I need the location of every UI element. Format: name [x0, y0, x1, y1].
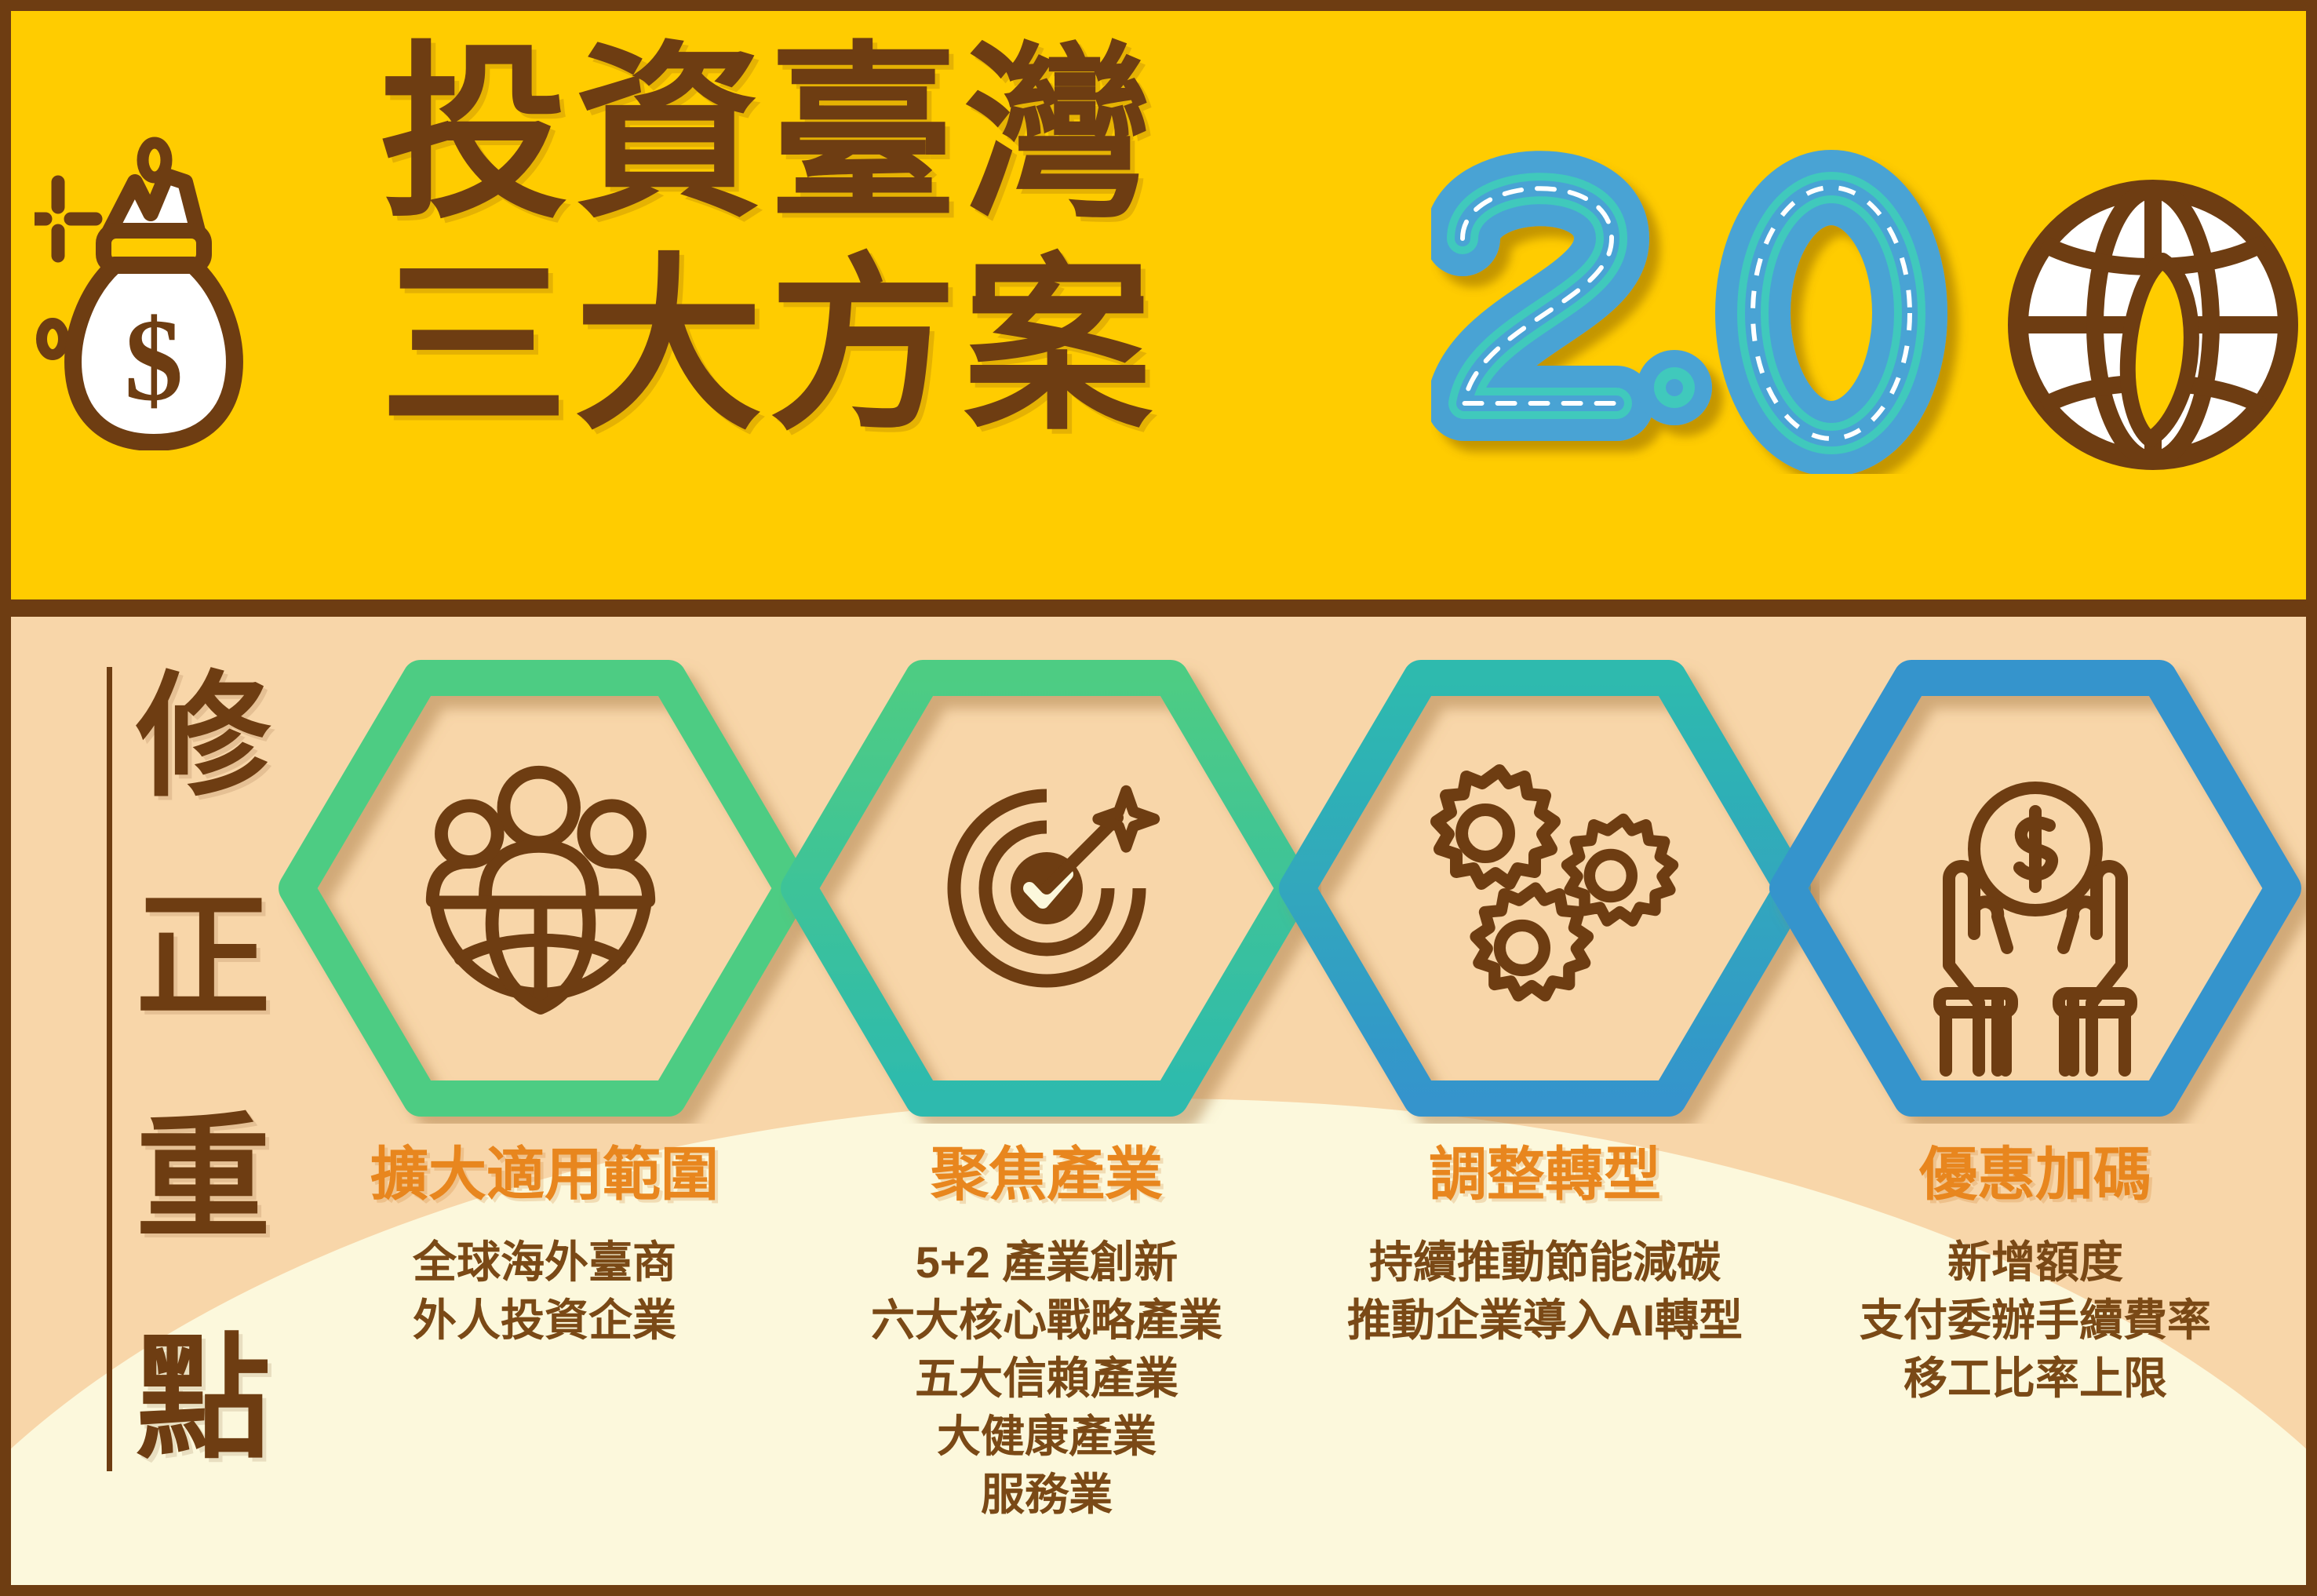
card-title-4: 優惠加碼: [1761, 1141, 2306, 1208]
vertical-label-char-1: 修: [136, 664, 271, 810]
bullet-item: 支付委辦手續費率: [1718, 1292, 2306, 1350]
vertical-label-char-3: 重: [136, 1106, 271, 1252]
money-bag-icon: $: [35, 121, 333, 450]
section-vertical-label: 修 正 重 點: [121, 664, 286, 1472]
bullet-item: 新增額度: [1718, 1233, 2306, 1292]
version-text: 2.0: [1431, 472, 1433, 473]
body-section: 修 正 重 點: [11, 617, 2306, 1585]
version-badge: 2.0: [1431, 144, 1980, 474]
vertical-label-char-4: 點: [136, 1326, 271, 1472]
card-title-3: 調整轉型: [1270, 1141, 1820, 1208]
card-bullets-4: 新增額度 支付委辦手續費率 移工比率上限: [1718, 1233, 2306, 1408]
infographic-poster: $ 投資臺灣 三大方案: [0, 0, 2317, 1596]
hexagon-2: [772, 653, 1321, 1124]
card-title-2: 聚焦產業: [772, 1141, 1321, 1208]
title-line-2: 三大方案: [380, 240, 1478, 452]
card-transformation[interactable]: 調整轉型 持續推動節能減碳 推動企業導入AI轉型: [1270, 617, 1820, 1558]
hexagon-card-row: 擴大適用範圍 全球海外臺商 外人投資企業: [270, 617, 2279, 1558]
header-banner: $ 投資臺灣 三大方案: [11, 11, 2306, 617]
globe-taiwan-icon: [1996, 176, 2306, 474]
bullet-item: 移工比率上限: [1718, 1350, 2306, 1408]
svg-text:$: $: [125, 295, 184, 425]
bullet-item: 五大信賴產業: [737, 1350, 1357, 1408]
hexagon-4: [1761, 653, 2306, 1124]
people-globe-icon: [432, 772, 649, 1008]
card-incentives[interactable]: 優惠加碼 新增額度 支付委辦手續費率 移工比率上限: [1761, 617, 2306, 1558]
header-title: 投資臺灣 三大方案: [380, 28, 1478, 609]
hexagon-3: [1270, 653, 1820, 1124]
gears-icon: [1437, 771, 1673, 996]
vertical-rule: [107, 667, 112, 1471]
bullet-item: 服務業: [737, 1466, 1357, 1524]
title-line-1: 投資臺灣: [380, 28, 1478, 240]
hands-coin-icon: [1940, 788, 2131, 1070]
vertical-label-char-2: 正: [136, 884, 271, 1030]
hexagon-1: [270, 653, 819, 1124]
target-arrow-icon: [954, 791, 1154, 981]
bullet-item: 大健康產業: [737, 1408, 1357, 1466]
card-title-1: 擴大適用範圍: [270, 1141, 819, 1208]
card-focus-industry[interactable]: 聚焦產業 5+2 產業創新 六大核心戰略產業 五大信賴產業 大健康產業 服務業: [772, 617, 1321, 1558]
